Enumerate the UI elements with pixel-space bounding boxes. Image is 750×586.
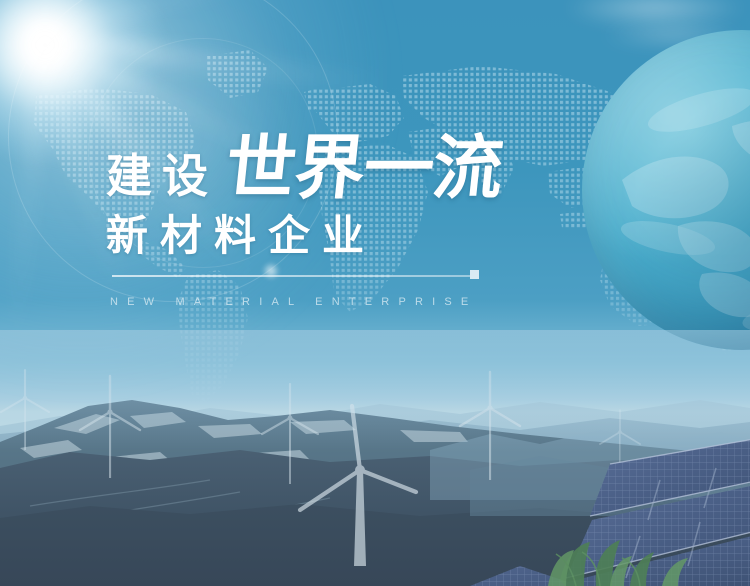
hero-banner: 建设 世界一流 新材料企业 NEW MATERIAL ENTERPRISE	[0, 0, 750, 586]
landscape-scene	[0, 330, 750, 586]
headline-line-1: 建设 世界一流	[106, 133, 502, 203]
headline-divider	[112, 275, 470, 277]
headline-divider-cap	[470, 270, 479, 279]
headline-prefix: 建设	[106, 153, 218, 203]
headline-line-2: 新材料企业	[106, 215, 376, 257]
headline-block: 建设 世界一流 新材料企业 NEW MATERIAL ENTERPRISE	[0, 0, 750, 340]
headline-emphasis: 世界一流	[222, 133, 505, 203]
headline-subtitle: NEW MATERIAL ENTERPRISE	[110, 297, 477, 308]
